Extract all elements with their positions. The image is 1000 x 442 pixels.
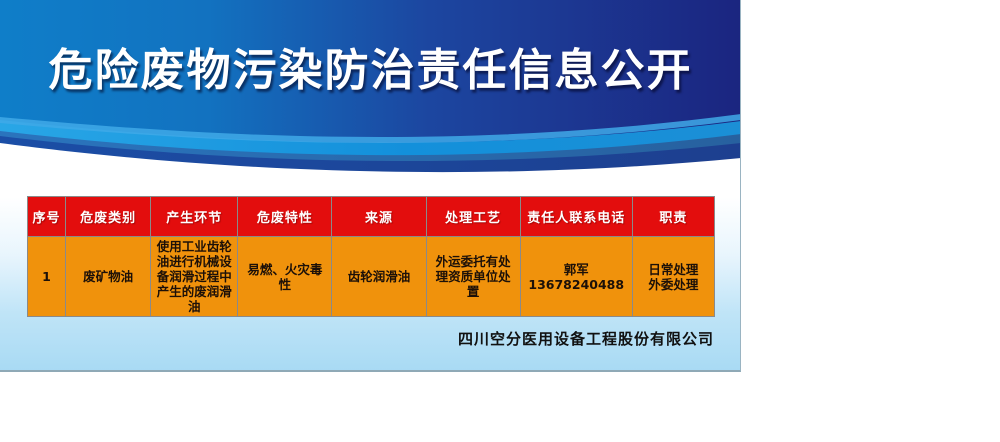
cell-stage: 使用工业齿轮油进行机械设备润滑过程中产生的废润滑油 bbox=[151, 237, 238, 317]
cell-duty: 日常处理 外委处理 bbox=[632, 237, 714, 317]
responsible-person-name: 郭军 bbox=[524, 262, 629, 277]
company-name: 四川空分医用设备工程股份有限公司 bbox=[0, 328, 714, 349]
page-title: 危险废物污染防治责任信息公开 bbox=[0, 46, 741, 96]
column-header-index: 序号 bbox=[28, 197, 66, 237]
column-header-property: 危废特性 bbox=[238, 197, 332, 237]
cell-category: 废矿物油 bbox=[66, 237, 151, 317]
responsible-person-phone: 13678240488 bbox=[524, 277, 629, 292]
cell-source: 齿轮润滑油 bbox=[332, 237, 426, 317]
table-row: 1 废矿物油 使用工业齿轮油进行机械设备润滑过程中产生的废润滑油 易燃、火灾毒性… bbox=[28, 237, 715, 317]
column-header-stage: 产生环节 bbox=[151, 197, 238, 237]
table-header-row: 序号 危废类别 产生环节 危废特性 来源 处理工艺 责任人联系电话 职责 bbox=[28, 197, 715, 237]
column-header-duty: 职责 bbox=[632, 197, 714, 237]
cell-responsible-contact: 郭军 13678240488 bbox=[520, 237, 632, 317]
hazardous-waste-table: 序号 危废类别 产生环节 危废特性 来源 处理工艺 责任人联系电话 职责 1 废… bbox=[27, 196, 715, 317]
cell-property: 易燃、火灾毒性 bbox=[238, 237, 332, 317]
duty-line-daily: 日常处理 bbox=[636, 262, 711, 277]
column-header-phone: 责任人联系电话 bbox=[520, 197, 632, 237]
cell-treatment: 外运委托有处理资质单位处置 bbox=[426, 237, 520, 317]
poster-header-banner: 危险废物污染防治责任信息公开 bbox=[0, 0, 741, 180]
column-header-source: 来源 bbox=[332, 197, 426, 237]
column-header-category: 危废类别 bbox=[66, 197, 151, 237]
cell-index: 1 bbox=[28, 237, 66, 317]
information-disclosure-poster: 危险废物污染防治责任信息公开 序号 危废类别 产生环节 危废特性 来源 处理工艺… bbox=[0, 0, 741, 372]
duty-line-outsource: 外委处理 bbox=[636, 277, 711, 292]
column-header-treatment: 处理工艺 bbox=[426, 197, 520, 237]
